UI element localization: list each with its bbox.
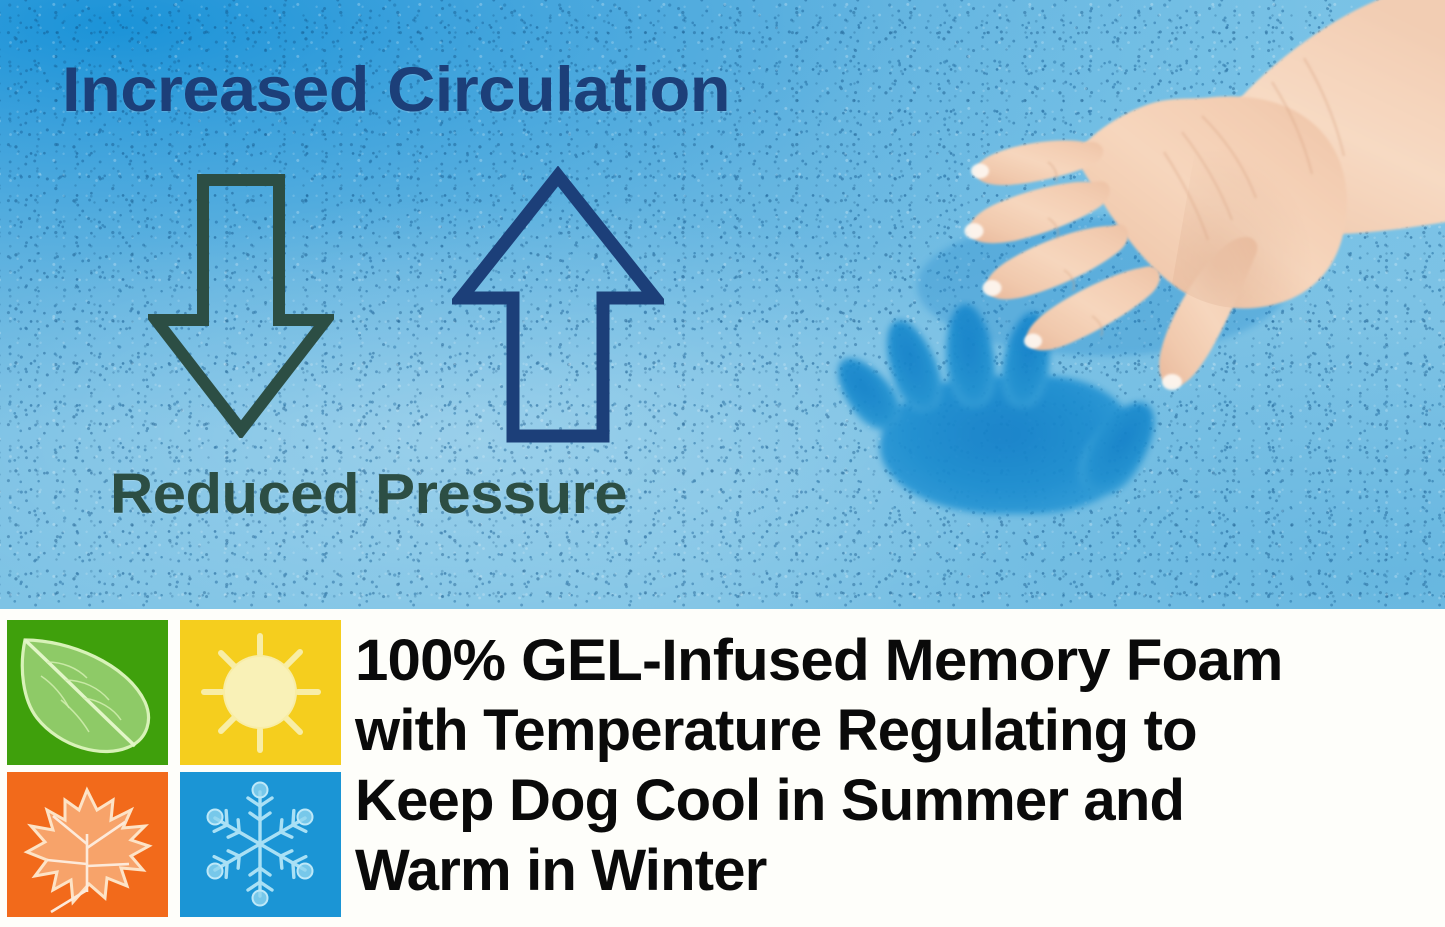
sun-icon: [180, 620, 341, 765]
season-tile-grid: [7, 620, 341, 917]
arrow-down-icon: [148, 172, 334, 438]
human-hand: [852, 0, 1445, 456]
headline-block: 100% GEL-Infused Memory Foam with Temper…: [355, 626, 1445, 906]
season-tile-winter: [180, 772, 341, 917]
gel-foam-photo: Increased Circulation Reduced Pressure: [0, 0, 1445, 609]
headline-line-4: Warm in Winter: [355, 836, 1445, 906]
season-tile-autumn: [7, 772, 168, 917]
season-tile-spring: [7, 620, 168, 765]
product-feature-graphic: Increased Circulation Reduced Pressure: [0, 0, 1445, 927]
maple-leaf-icon: [7, 772, 168, 917]
feature-band: 100% GEL-Infused Memory Foam with Temper…: [0, 609, 1445, 927]
headline-line-3: Keep Dog Cool in Summer and: [355, 766, 1445, 836]
label-increased-circulation: Increased Circulation: [62, 54, 730, 126]
headline-line-2: with Temperature Regulating to: [355, 696, 1445, 766]
snowflake-icon: [180, 772, 341, 917]
season-tile-summer: [180, 620, 341, 765]
headline-line-1: 100% GEL-Infused Memory Foam: [355, 626, 1445, 696]
label-reduced-pressure: Reduced Pressure: [110, 461, 627, 527]
leaf-icon: [7, 620, 168, 765]
arrow-up-icon: [452, 166, 664, 446]
